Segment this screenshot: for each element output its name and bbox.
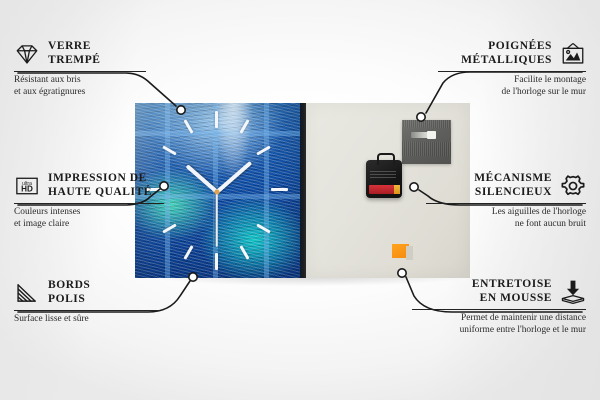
picture-hanger-icon bbox=[560, 41, 586, 67]
callout-poignees-metalliques: POIGNÉES MÉTALLIQUES Facilite le montage… bbox=[438, 40, 586, 98]
callout-rule bbox=[14, 310, 160, 311]
callout-rule bbox=[14, 71, 146, 72]
callout-title: IMPRESSION DE HAUTE QUALITÉ bbox=[48, 172, 152, 199]
callout-mecanisme-silencieux: MÉCANISME SILENCIEUX Les aiguilles de l'… bbox=[426, 172, 586, 230]
callout-rule bbox=[412, 309, 586, 310]
hand-center-cap bbox=[215, 190, 220, 195]
foam-spacer-arrow-icon bbox=[560, 279, 586, 305]
callout-subtitle: Couleurs intenses et image claire bbox=[14, 207, 164, 230]
callout-bords-polis: BORDS POLIS Surface lisse et sûre bbox=[14, 279, 160, 326]
callout-subtitle: Les aiguilles de l'horloge ne font aucun… bbox=[426, 207, 586, 230]
movement-label bbox=[370, 169, 396, 178]
metal-hanger-plate bbox=[402, 120, 451, 164]
hour-marker bbox=[215, 111, 218, 128]
callout-rule bbox=[438, 71, 586, 72]
gear-icon bbox=[560, 173, 586, 199]
callout-subtitle: Permet de maintenir une distance uniform… bbox=[412, 313, 586, 336]
second-hand bbox=[216, 191, 218, 247]
callout-subtitle: Facilite le montage de l'horloge sur le … bbox=[438, 75, 586, 98]
hanger-slot bbox=[411, 132, 435, 138]
battery bbox=[369, 185, 398, 194]
callout-rule bbox=[426, 203, 586, 204]
callout-title: MÉCANISME SILENCIEUX bbox=[474, 172, 552, 199]
hour-marker bbox=[271, 188, 288, 191]
ultra-hd-icon: ultra HD bbox=[14, 173, 40, 199]
callout-subtitle: Résistant aux bris et aux égratignures bbox=[14, 75, 146, 98]
callout-subtitle: Surface lisse et sûre bbox=[14, 314, 160, 325]
diamond-icon bbox=[14, 41, 40, 67]
callout-entretoise-en-mousse: ENTRETOISE EN MOUSSE Permet de maintenir… bbox=[412, 278, 586, 336]
callout-rule bbox=[14, 203, 164, 204]
foam-spacer bbox=[392, 244, 409, 258]
svg-text:HD: HD bbox=[21, 184, 33, 193]
callout-title: POIGNÉES MÉTALLIQUES bbox=[461, 40, 552, 67]
callout-verre-trempe: VERRE TREMPÉ Résistant aux bris et aux é… bbox=[14, 40, 146, 98]
movement-hook bbox=[377, 153, 395, 165]
polished-edges-icon bbox=[14, 280, 40, 306]
quartz-movement bbox=[366, 160, 402, 198]
product-image bbox=[135, 103, 470, 278]
hour-marker bbox=[215, 253, 218, 270]
callout-title: VERRE TREMPÉ bbox=[48, 40, 101, 67]
callout-impression-haute-qualite: ultra HD IMPRESSION DE HAUTE QUALITÉ Cou… bbox=[14, 172, 164, 230]
callout-title: ENTRETOISE EN MOUSSE bbox=[472, 278, 552, 305]
callout-title: BORDS POLIS bbox=[48, 279, 90, 306]
infographic-canvas: VERRE TREMPÉ Résistant aux bris et aux é… bbox=[0, 0, 600, 400]
